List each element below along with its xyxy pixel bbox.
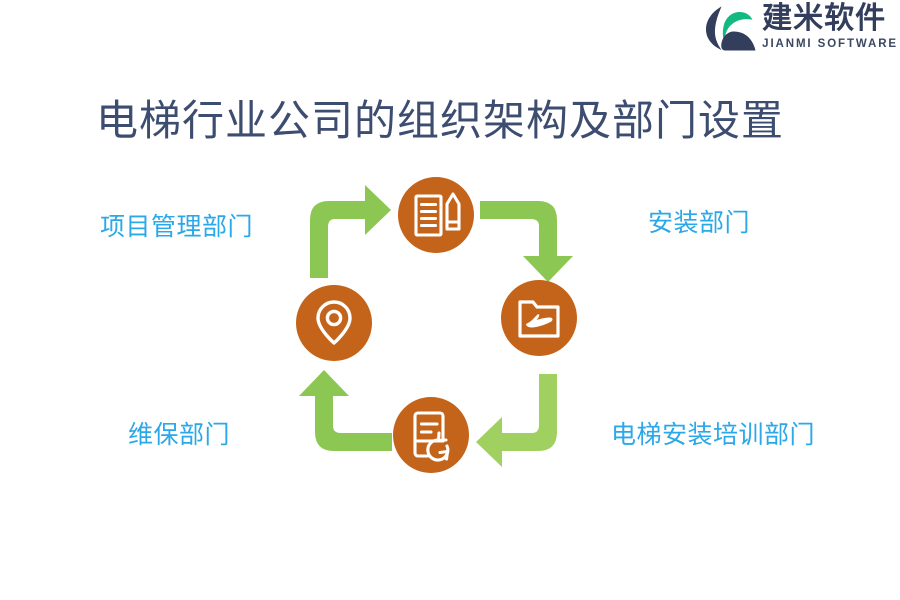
brand-logo: 建米软件 JIANMI SOFTWARE bbox=[704, 4, 898, 51]
label-elevator-install-training: 电梯安装培训部门 bbox=[611, 415, 815, 451]
brand-name-cn: 建米软件 bbox=[762, 4, 886, 34]
page-title: 电梯行业公司的组织架构及部门设置 bbox=[96, 96, 784, 146]
arrow-top-to-right bbox=[480, 201, 573, 282]
node-right-installation[interactable] bbox=[501, 280, 577, 356]
node-top-project-management[interactable] bbox=[398, 177, 474, 253]
node-circle-bottom bbox=[393, 397, 469, 473]
jianmi-leaf-swoosh-logo-icon bbox=[704, 5, 756, 51]
brand-name-en: JIANMI SOFTWARE bbox=[762, 39, 898, 51]
brand-text: 建米软件 JIANMI SOFTWARE bbox=[762, 4, 898, 51]
label-maintenance: 维保部门 bbox=[128, 415, 230, 451]
cycle-diagram bbox=[288, 172, 586, 482]
arrow-right-to-bottom bbox=[476, 374, 557, 467]
cycle-diagram-svg bbox=[288, 172, 586, 482]
label-installation: 安装部门 bbox=[648, 203, 750, 239]
node-circle-right bbox=[501, 280, 577, 356]
arrow-left-to-top bbox=[310, 185, 391, 278]
arrow-bottom-to-left bbox=[299, 370, 392, 451]
slide-canvas: 建米软件 JIANMI SOFTWARE 电梯行业公司的组织架构及部门设置 项目… bbox=[0, 0, 900, 600]
node-circle-top bbox=[398, 177, 474, 253]
label-project-management: 项目管理部门 bbox=[100, 207, 253, 243]
node-left-maintenance[interactable] bbox=[296, 285, 372, 361]
node-bottom-elevator-install-training[interactable] bbox=[393, 397, 469, 473]
